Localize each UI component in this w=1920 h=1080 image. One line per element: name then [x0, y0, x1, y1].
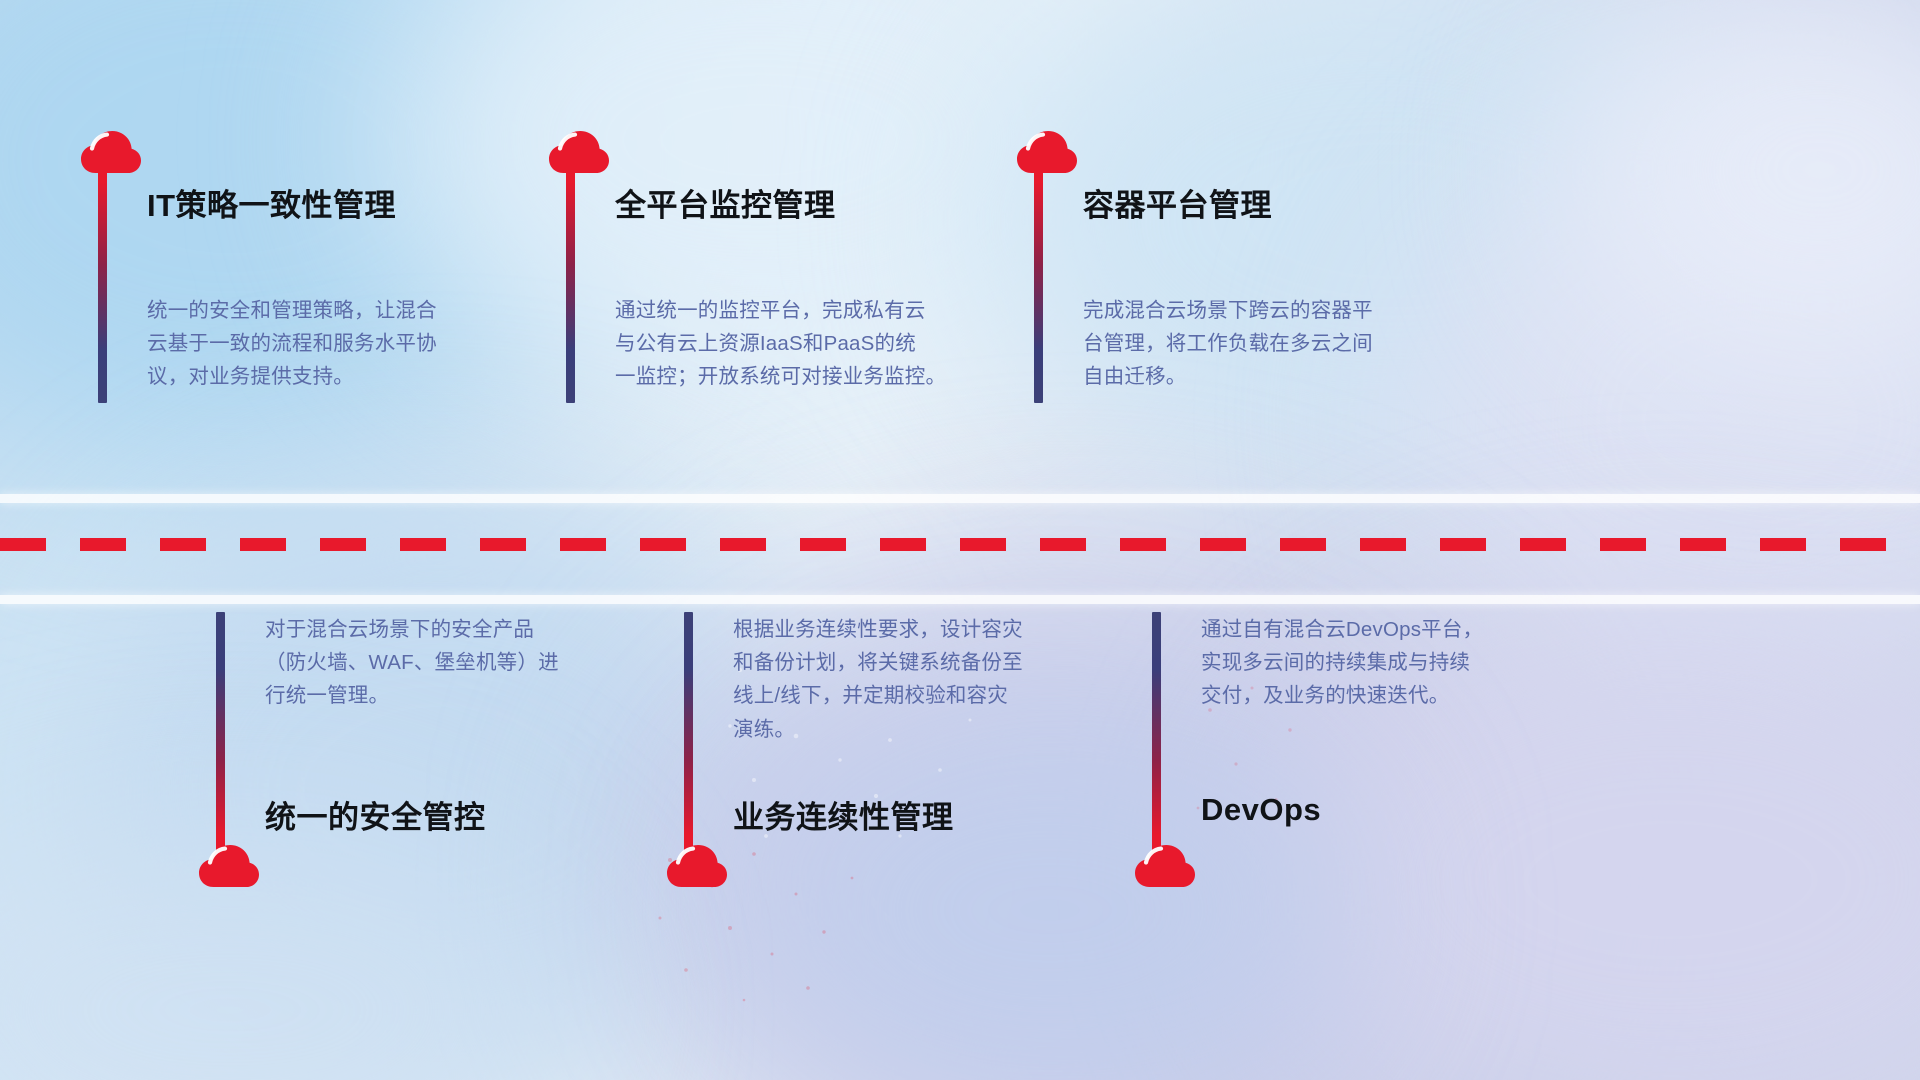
column-description: 统一的安全和管理策略，让混合 云基于一致的流程和服务水平协 议，对业务提供支持。 [147, 294, 497, 394]
column-stem [1152, 612, 1161, 852]
column-description: 对于混合云场景下的安全产品 （防火墙、WAF、堡垒机等）进 行统一管理。 [265, 613, 615, 713]
column-title: 统一的安全管控 [265, 792, 486, 837]
cloud-icon [666, 844, 728, 888]
column-description-text: 根据业务连续性要求，设计容灾 和备份计划，将关键系统备份至 线上/线下，并定期校… [733, 613, 1083, 746]
divider-rail-top [0, 494, 1920, 503]
column-stem [566, 163, 575, 403]
column-description: 根据业务连续性要求，设计容灾 和备份计划，将关键系统备份至 线上/线下，并定期校… [733, 613, 1083, 746]
column-description-text: 通过自有混合云DevOps平台， 实现多云间的持续集成与持续 交付，及业务的快速… [1201, 613, 1561, 713]
cloud-icon [1134, 844, 1196, 888]
column-title: 全平台监控管理 [615, 180, 836, 225]
column-title: 容器平台管理 [1083, 180, 1272, 225]
column-stem [98, 163, 107, 403]
column-title: IT策略一致性管理 [147, 180, 396, 225]
column-description: 通过统一的监控平台，完成私有云 与公有云上资源IaaS和PaaS的统 一监控；开… [615, 294, 965, 394]
column-title: 业务连续性管理 [733, 792, 954, 837]
column-description: 完成混合云场景下跨云的容器平 台管理，将工作负载在多云之间 自由迁移。 [1083, 294, 1443, 394]
column-stem [684, 612, 693, 852]
column-description: 通过自有混合云DevOps平台， 实现多云间的持续集成与持续 交付，及业务的快速… [1201, 613, 1561, 713]
column-description-text: 完成混合云场景下跨云的容器平 台管理，将工作负载在多云之间 自由迁移。 [1083, 294, 1443, 394]
divider-rail-bottom [0, 595, 1920, 604]
cloud-icon [548, 130, 610, 174]
column-description-text: 统一的安全和管理策略，让混合 云基于一致的流程和服务水平协 议，对业务提供支持。 [147, 294, 497, 394]
hybrid-cloud-divider [0, 494, 1920, 604]
column-description-text: 通过统一的监控平台，完成私有云 与公有云上资源IaaS和PaaS的统 一监控；开… [615, 294, 965, 394]
column-stem [216, 612, 225, 852]
column-description-text: 对于混合云场景下的安全产品 （防火墙、WAF、堡垒机等）进 行统一管理。 [265, 613, 615, 713]
column-stem [1034, 163, 1043, 403]
cloud-icon [80, 130, 142, 174]
divider-dashed-line [0, 538, 1920, 551]
cloud-icon [1016, 130, 1078, 174]
cloud-icon [198, 844, 260, 888]
column-title: DevOps [1201, 792, 1321, 828]
